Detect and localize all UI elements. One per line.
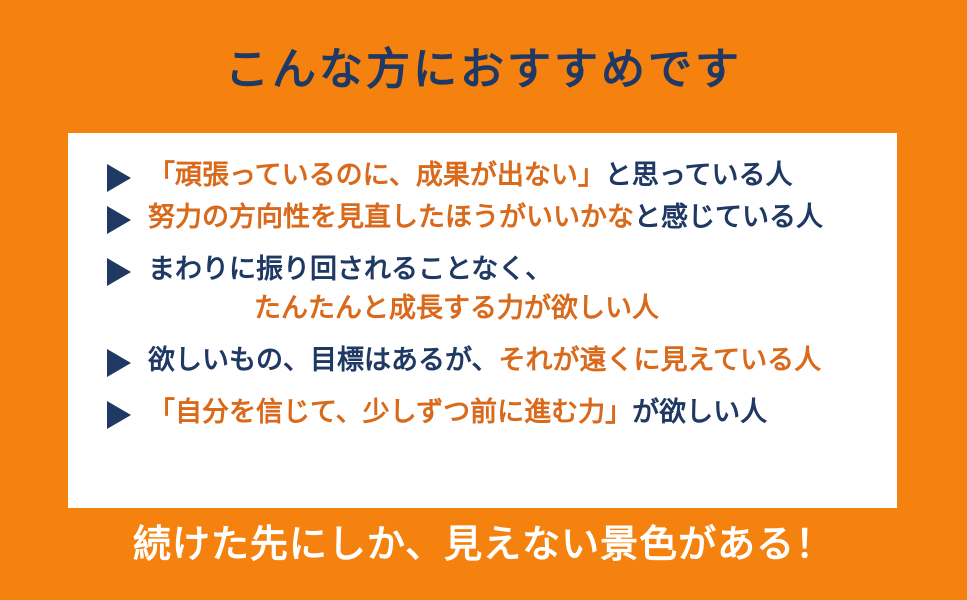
triangle-right-icon — [106, 257, 132, 287]
list-item-segment-plain: と感じている人 — [634, 202, 823, 232]
list-item: 欲しいもの、目標はあるが、それが遠くに見えている人 — [68, 342, 897, 380]
list-item-text: まわりに振り回されることなく、 たんたんと成長する力が欲しい人 — [148, 251, 659, 329]
list-item-segment-highlight: それが遠くに見えている人 — [498, 345, 821, 375]
list-item: 「頑張っているのに、成果が出ない」と思っている人 — [68, 157, 897, 195]
triangle-right-icon — [106, 348, 132, 378]
list-item-text: 努力の方向性を見直したほうがいいかなと感じている人 — [148, 199, 823, 237]
page-title: こんな方におすすめです — [0, 44, 967, 97]
triangle-right-icon — [106, 400, 132, 430]
list-item-segment-plain: と思っている人 — [605, 160, 793, 190]
list-item-segment-plain: が欲しい人 — [632, 397, 767, 427]
list-item: 努力の方向性を見直したほうがいいかなと感じている人 — [68, 199, 897, 237]
list-item-text: 「自分を信じて、少しずつ前に進む力」が欲しい人 — [148, 394, 767, 432]
list-item: まわりに振り回されることなく、 たんたんと成長する力が欲しい人 — [68, 251, 897, 329]
triangle-right-icon — [106, 205, 132, 235]
list-item-segment-highlight: 努力の方向性を見直したほうがいいかな — [148, 202, 634, 232]
list-item-segment-highlight: たんたんと成長する力が欲しい人 — [148, 290, 659, 328]
promo-poster: こんな方におすすめです 「頑張っているのに、成果が出ない」と思っている人 — [0, 0, 967, 600]
list-item-segment-highlight: 「頑張っているのに、成果が出ない」 — [148, 160, 605, 190]
list-item-text: 「頑張っているのに、成果が出ない」と思っている人 — [148, 157, 793, 195]
list-item: 「自分を信じて、少しずつ前に進む力」が欲しい人 — [68, 394, 897, 432]
list-item-segment-plain: 欲しいもの、目標はあるが、 — [148, 345, 498, 375]
list-item-segment-highlight: 「自分を信じて、少しずつ前に進む力」 — [148, 397, 632, 427]
triangle-right-icon — [106, 163, 132, 193]
list-item-text: 欲しいもの、目標はあるが、それが遠くに見えている人 — [148, 342, 821, 380]
recommendation-card: 「頑張っているのに、成果が出ない」と思っている人 努力の方向性を見直したほうがい… — [68, 133, 897, 508]
list-item-segment-plain: まわりに振り回されることなく、 — [148, 254, 552, 284]
footer-tagline: 続けた先にしか、見えない景色がある！ — [0, 522, 967, 570]
bullet-list: 「頑張っているのに、成果が出ない」と思っている人 努力の方向性を見直したほうがい… — [68, 133, 897, 508]
